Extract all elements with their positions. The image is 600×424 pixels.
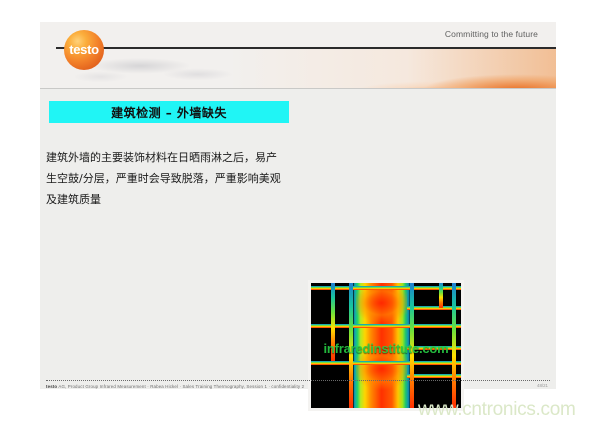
footer-company: testo xyxy=(46,384,57,389)
paragraph-line: 及建筑质量 xyxy=(46,189,346,210)
flame-graphic xyxy=(226,48,556,88)
presentation-slide: testo Committing to the future 建筑检测 – 外墙… xyxy=(40,22,556,388)
slide-body: 建筑检测 – 外墙缺失 建筑外墙的主要装饰材料在日晒雨淋之后，易产 生空鼓/分层… xyxy=(40,88,556,389)
paragraph-line: 生空鼓/分层，严重时会导致脱落，严重影响美观 xyxy=(46,168,346,189)
paragraph-line: 建筑外墙的主要装饰材料在日晒雨淋之后，易产 xyxy=(46,147,346,168)
page-number: 48/21 xyxy=(537,383,548,388)
footer-text: testo AG, Product Group Infrared Measure… xyxy=(46,384,304,389)
footer-details: AG, Product Group Infrared Measurement ·… xyxy=(58,384,304,389)
thermal-joint-line xyxy=(311,361,461,365)
site-watermark: www.cntronics.com xyxy=(418,399,576,421)
footer-divider xyxy=(46,380,550,381)
slide-header: testo Committing to the future xyxy=(40,22,556,88)
thermal-image-watermark: infraredinstitute.com xyxy=(311,341,461,356)
thermal-hotspot xyxy=(356,288,407,338)
testo-logo: testo xyxy=(64,30,104,70)
thermal-image: infraredinstitute.com xyxy=(311,283,461,408)
logo-wordmark: testo xyxy=(64,42,104,57)
page-title: 建筑检测 – 外墙缺失 xyxy=(111,104,227,121)
header-divider-rule xyxy=(56,47,556,49)
body-paragraph: 建筑外墙的主要装饰材料在日晒雨淋之后，易产 生空鼓/分层，严重时会导致脱落，严重… xyxy=(46,147,346,210)
thermal-dark-panel xyxy=(316,366,352,404)
header-tagline: Committing to the future xyxy=(445,29,538,39)
thermal-image-figure: infraredinstitute.com xyxy=(308,280,464,411)
slide-title-banner: 建筑检测 – 外墙缺失 xyxy=(49,101,289,123)
thermal-joint-line xyxy=(439,283,443,308)
